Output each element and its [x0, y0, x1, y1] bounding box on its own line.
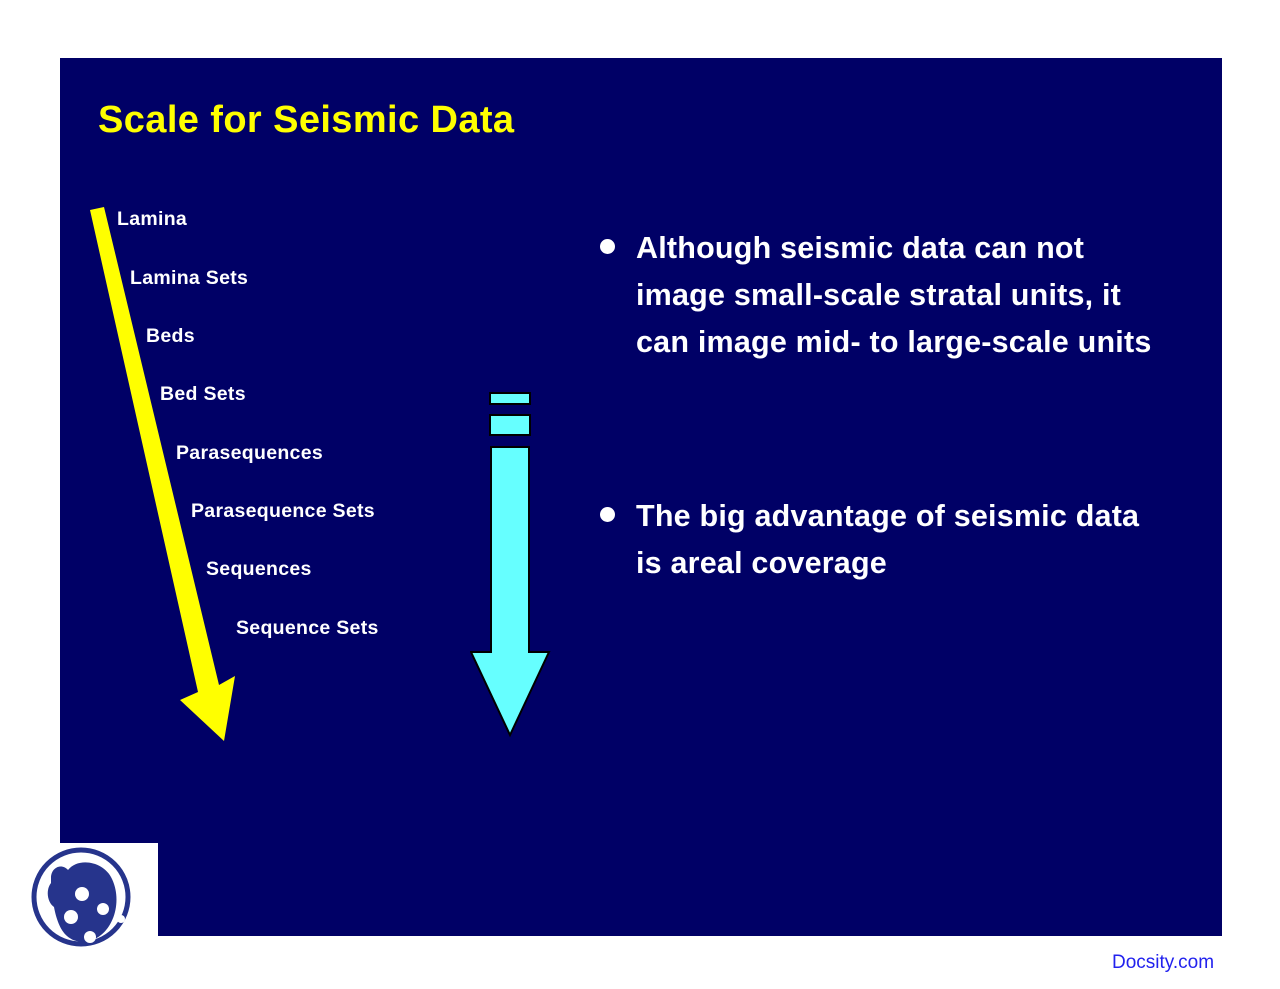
slide-root: Scale for Seismic Data Lamina Lamina Set…: [0, 0, 1280, 989]
hierarchy-item-sequence-sets: Sequence Sets: [236, 617, 379, 640]
seismic-resolution-arrow-icon: [470, 380, 570, 750]
hierarchy-item-lamina: Lamina: [117, 208, 187, 231]
hierarchy-item-lamina-sets: Lamina Sets: [130, 267, 248, 290]
stratal-hierarchy-list: Lamina Lamina Sets Beds Bed Sets Paraseq…: [0, 0, 520, 520]
hierarchy-item-beds: Beds: [146, 325, 195, 348]
list-item: The big advantage of seismic data is are…: [600, 493, 1166, 587]
hierarchy-item-bed-sets: Bed Sets: [160, 383, 246, 406]
institution-logo-icon: [18, 845, 148, 953]
hierarchy-item-parasequences: Parasequences: [176, 442, 323, 465]
hierarchy-item-parasequence-sets: Parasequence Sets: [191, 500, 375, 523]
watermark-docsity: Docsity.com: [1112, 952, 1214, 974]
bullet-text-areal-coverage: The big advantage of seismic data is are…: [636, 493, 1166, 587]
bullet-dot-icon: [600, 239, 615, 254]
list-item: Although seismic data can not image smal…: [600, 225, 1166, 366]
bullet-dot-icon: [600, 507, 615, 522]
hierarchy-item-sequences: Sequences: [206, 558, 312, 581]
bullet-text-seismic-imaging: Although seismic data can not image smal…: [636, 225, 1166, 366]
